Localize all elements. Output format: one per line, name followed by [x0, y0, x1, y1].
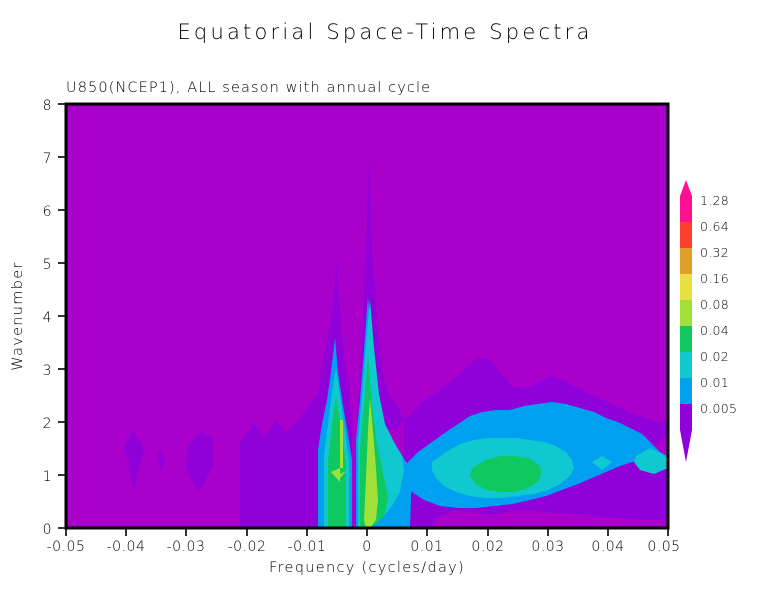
colorbar-label-0: 1.28: [700, 193, 729, 208]
x-tick-label-4: -0.01: [288, 539, 327, 555]
x-tick-label-5: 0: [362, 539, 371, 555]
y-tick-label-0: 0: [43, 522, 52, 538]
colorbar-swatch-0.64: [680, 222, 692, 248]
y-tick-label-5: 5: [43, 257, 52, 273]
y-tick-label-8: 8: [43, 98, 52, 114]
x-tick-label-2: -0.03: [167, 539, 206, 555]
colorbar-swatch-0.16: [680, 274, 692, 300]
y-axis-title: Wavenumber: [10, 261, 26, 370]
y-tick-label-7: 7: [43, 151, 52, 167]
colorbar-label-3: 0.16: [700, 271, 729, 286]
colorbar-swatch-0.04: [680, 326, 692, 352]
x-tick-label-10: 0.05: [647, 539, 680, 555]
colorbar-swatch-0.08: [680, 300, 692, 326]
x-tick-label-6: 0.01: [410, 539, 443, 555]
colorbar-label-5: 0.04: [700, 323, 729, 338]
y-tick-label-1: 1: [43, 469, 52, 485]
colorbar-swatch-0.01: [680, 378, 692, 404]
colorbar-label-6: 0.02: [700, 349, 729, 364]
colorbar-swatch-1.28: [680, 196, 692, 222]
colorbar: 1.28 0.64 0.32 0.16 0.08 0.04 0.02 0.01 …: [680, 180, 737, 462]
y-tick-label-4: 4: [43, 310, 52, 326]
colorbar-label-1: 0.64: [700, 219, 729, 234]
x-tick-label-0: -0.05: [47, 539, 86, 555]
y-tick-label-6: 6: [43, 204, 52, 220]
spectra-figure: -0.05 -0.04 -0.03 -0.02 -0.01 0 0.01 0.0…: [0, 0, 770, 595]
y-tick-label-3: 3: [43, 363, 52, 379]
colorbar-label-4: 0.08: [700, 297, 729, 312]
colorbar-label-7: 0.01: [700, 375, 729, 390]
colorbar-swatch-0.32: [680, 248, 692, 274]
x-tick-label-7: 0.02: [471, 539, 504, 555]
x-axis: -0.05 -0.04 -0.03 -0.02 -0.01 0 0.01 0.0…: [47, 528, 681, 576]
x-tick-label-3: -0.02: [228, 539, 267, 555]
contour-sliver-west-yellow: [340, 420, 343, 468]
colorbar-cap-top: [680, 180, 692, 196]
colorbar-label-8: 0.005: [700, 401, 737, 416]
colorbar-cap-bottom: [680, 430, 692, 462]
colorbar-swatch-0.005: [680, 404, 692, 430]
y-tick-label-2: 2: [43, 416, 52, 432]
x-tick-label-8: 0.03: [531, 539, 564, 555]
x-axis-title: Frequency (cycles/day): [269, 560, 465, 576]
colorbar-swatch-0.02: [680, 352, 692, 378]
contour-field: [66, 104, 668, 528]
x-tick-label-1: -0.04: [107, 539, 146, 555]
x-tick-label-9: 0.04: [591, 539, 624, 555]
colorbar-label-2: 0.32: [700, 245, 729, 260]
y-axis: 0 1 2 3 4 5 6 7 8 Wavenumber: [10, 98, 66, 538]
